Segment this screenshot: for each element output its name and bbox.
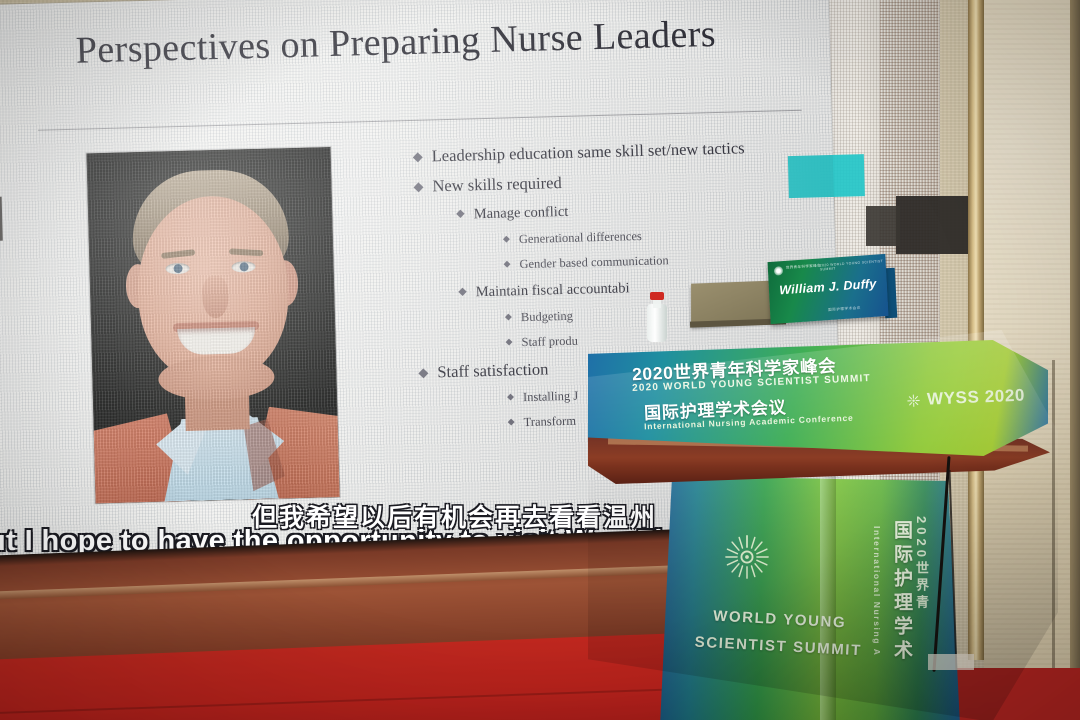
lectern-podium: WORLD YOUNG SCIENTIST SUMMIT Internation… [588,330,1058,720]
bullet-dot-icon: ◆ [458,287,467,298]
dark-wall-block [896,196,968,254]
floor-base-plate [928,654,974,670]
bullet-text: Staff satisfaction [437,354,549,387]
bullet-dot-icon: ◆ [508,417,515,426]
bullet-dot-icon: ◆ [503,234,510,243]
bullet-text: Staff produ [521,329,578,355]
bullet-dot-icon: ◆ [456,209,465,220]
far-wall-edge [1070,0,1080,720]
conference-stage-photo: Perspectives on Preparing Nurse Leaders [0,0,1080,720]
slide-teal-swatch [788,154,865,198]
bullet-dot-icon: ◆ [503,259,510,268]
wyss-small-starburst-icon [906,392,922,408]
slide-title: Perspectives on Preparing Nurse Leaders [75,10,796,73]
nameplate-speaker-name: William J. Duffy [769,276,887,298]
bullet-text: Budgeting [521,304,574,330]
bullet-dot-icon: ◆ [413,180,423,193]
bullet-dot-icon: ◆ [505,337,512,346]
speaker-portrait-photo [87,147,340,503]
portrait-screen-scanlines [87,147,340,503]
bullet-dot-icon: ◆ [505,312,512,321]
nameplate-top-caption: 2020 WORLD YOUNG SCIENTIST SUMMIT [820,259,886,272]
bullet-dot-icon: ◆ [507,392,514,401]
bullet-dot-icon: ◆ [413,150,423,163]
bullet-text: New skills required [432,168,562,201]
speaker-nameplate: 世界青年科学家峰会 2020 WORLD YOUNG SCIENTIST SUM… [768,254,889,324]
bottle-cap [650,292,664,300]
title-divider-rule [38,110,802,131]
nameplate-logo-icon [774,266,783,276]
bullet-text: Maintain fiscal accountabi [475,274,629,306]
slide-edge-marker [0,197,3,241]
bullet-text: Manage conflict [473,198,568,228]
dark-wall-block-secondary [866,206,900,246]
nameplate-bottom-caption: 国际护理学术会议 [828,306,861,313]
bullet-dot-icon: ◆ [418,366,428,379]
bullet-text: Generational differences [519,224,643,252]
bullet-text: Transform [523,409,576,435]
wyss-brand-text: WYSS 2020 [927,386,1026,410]
bullet-text: Gender based communication [519,248,669,277]
nameplate-logo-caption: 世界青年科学家峰会 [786,263,821,270]
bullet-text: Installing J [523,384,579,410]
